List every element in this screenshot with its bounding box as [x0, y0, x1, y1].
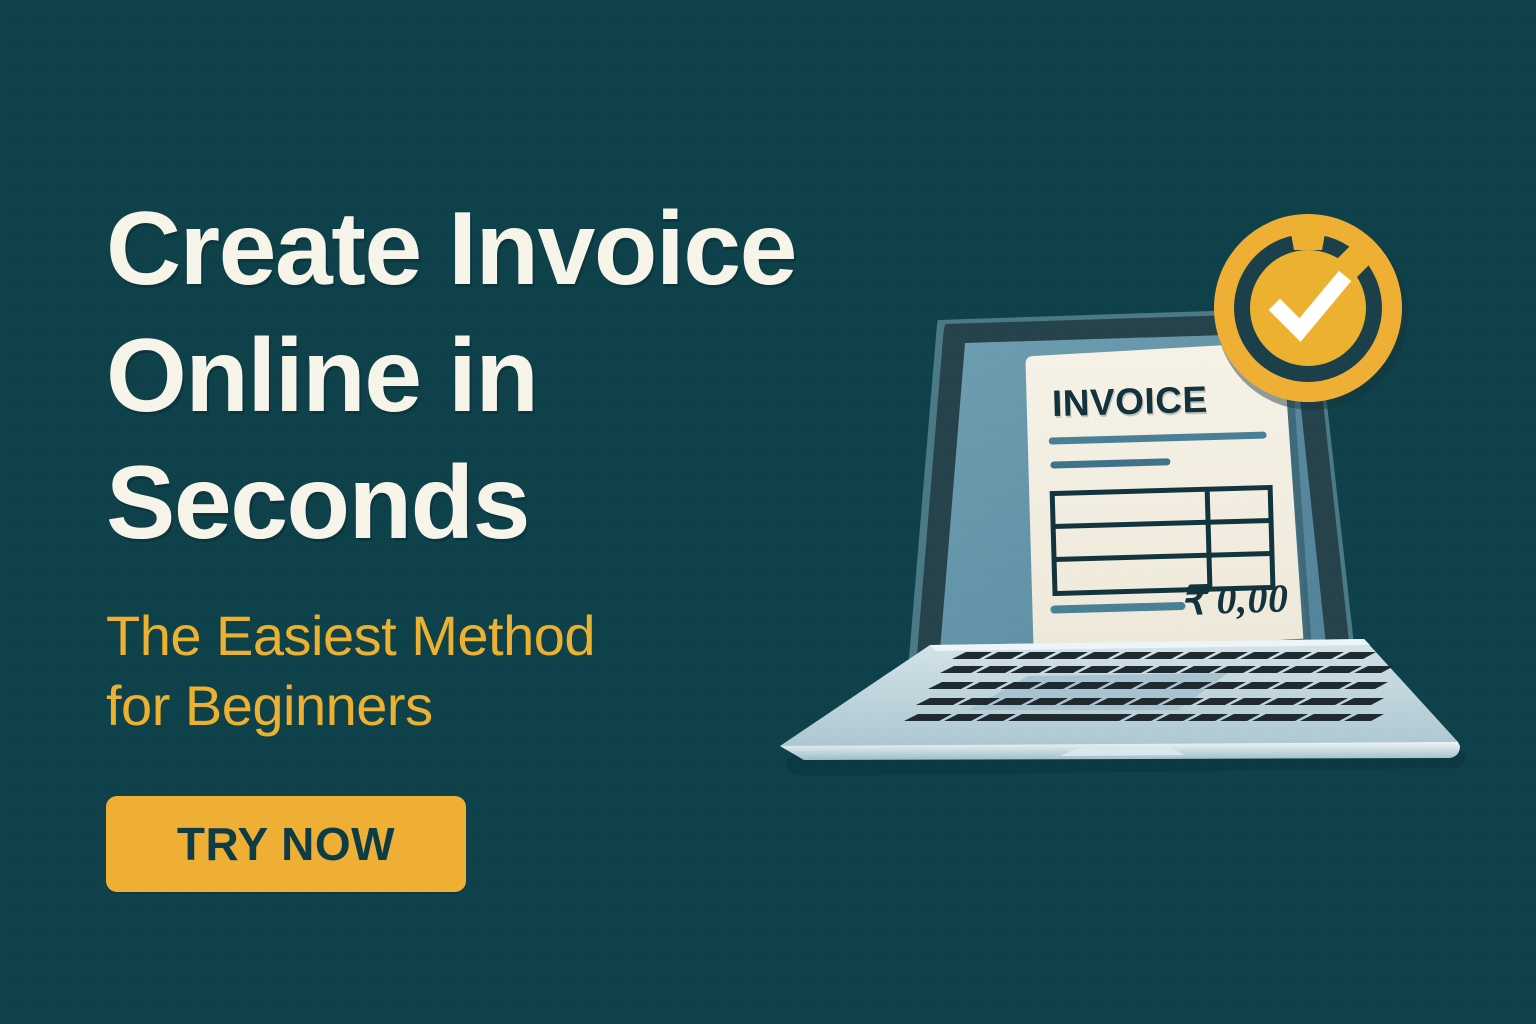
headline-line-3: Seconds	[106, 440, 966, 567]
subhead-line-2: for Beginners	[106, 671, 966, 742]
subhead-line-1: The Easiest Method	[106, 601, 966, 672]
headline-line-2: Online in	[106, 313, 966, 440]
stopwatch-check-icon	[1214, 214, 1408, 410]
page-subtitle: The Easiest Method for Beginners	[106, 601, 966, 742]
hero-copy-block: Create Invoice Online in Seconds The Eas…	[106, 186, 966, 892]
page-title: Create Invoice Online in Seconds	[106, 186, 966, 567]
try-now-button[interactable]: TRY NOW	[106, 796, 466, 892]
headline-line-1: Create Invoice	[106, 186, 966, 313]
